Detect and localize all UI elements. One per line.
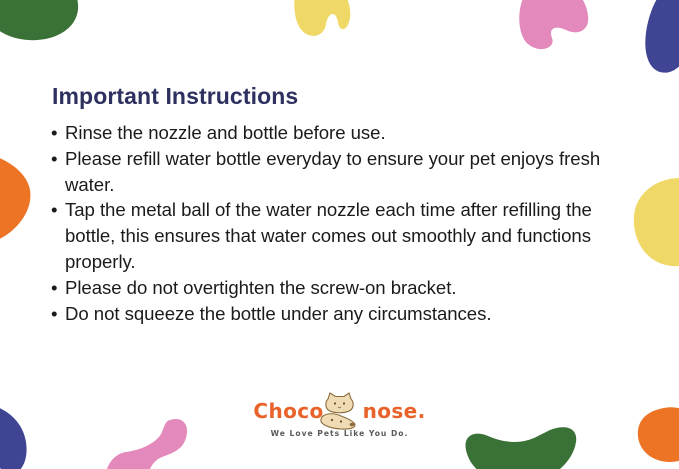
- list-item-text: Tap the metal ball of the water nozzle e…: [65, 199, 592, 272]
- card-content: Important Instructions • Rinse the nozzl…: [0, 0, 679, 469]
- list-item-text: Please do not overtighten the screw-on b…: [65, 277, 456, 298]
- bullet-icon: •: [51, 146, 57, 172]
- list-item: • Tap the metal ball of the water nozzle…: [50, 197, 630, 274]
- logo-word-nose: nose.: [363, 396, 426, 426]
- cat-face-icon: [325, 393, 352, 413]
- bullet-icon: •: [51, 275, 57, 301]
- logo-word-choco: Choco: [253, 396, 323, 426]
- page-title: Important Instructions: [52, 83, 298, 110]
- bullet-icon: •: [51, 120, 57, 146]
- list-item-text: Rinse the nozzle and bottle before use.: [65, 122, 386, 143]
- list-item-text: Do not squeeze the bottle under any circ…: [65, 303, 491, 324]
- bullet-icon: •: [51, 301, 57, 327]
- instruction-card: Important Instructions • Rinse the nozzl…: [0, 0, 679, 469]
- list-item: • Please do not overtighten the screw-on…: [50, 275, 630, 301]
- logo-wordmark: Choco nose.: [253, 396, 425, 426]
- list-item: • Rinse the nozzle and bottle before use…: [50, 120, 630, 146]
- list-item: • Do not squeeze the bottle under any ci…: [50, 301, 630, 327]
- logo-tagline: We Love Pets Like You Do.: [0, 429, 679, 438]
- list-item-text: Please refill water bottle everyday to e…: [65, 148, 600, 195]
- dog-face-icon: [320, 414, 354, 429]
- list-item: • Please refill water bottle everyday to…: [50, 146, 630, 198]
- logo-pet-faces: [319, 392, 361, 430]
- instructions-list: • Rinse the nozzle and bottle before use…: [50, 120, 630, 326]
- brand-logo: Choco nose.: [0, 396, 679, 438]
- bullet-icon: •: [51, 197, 57, 223]
